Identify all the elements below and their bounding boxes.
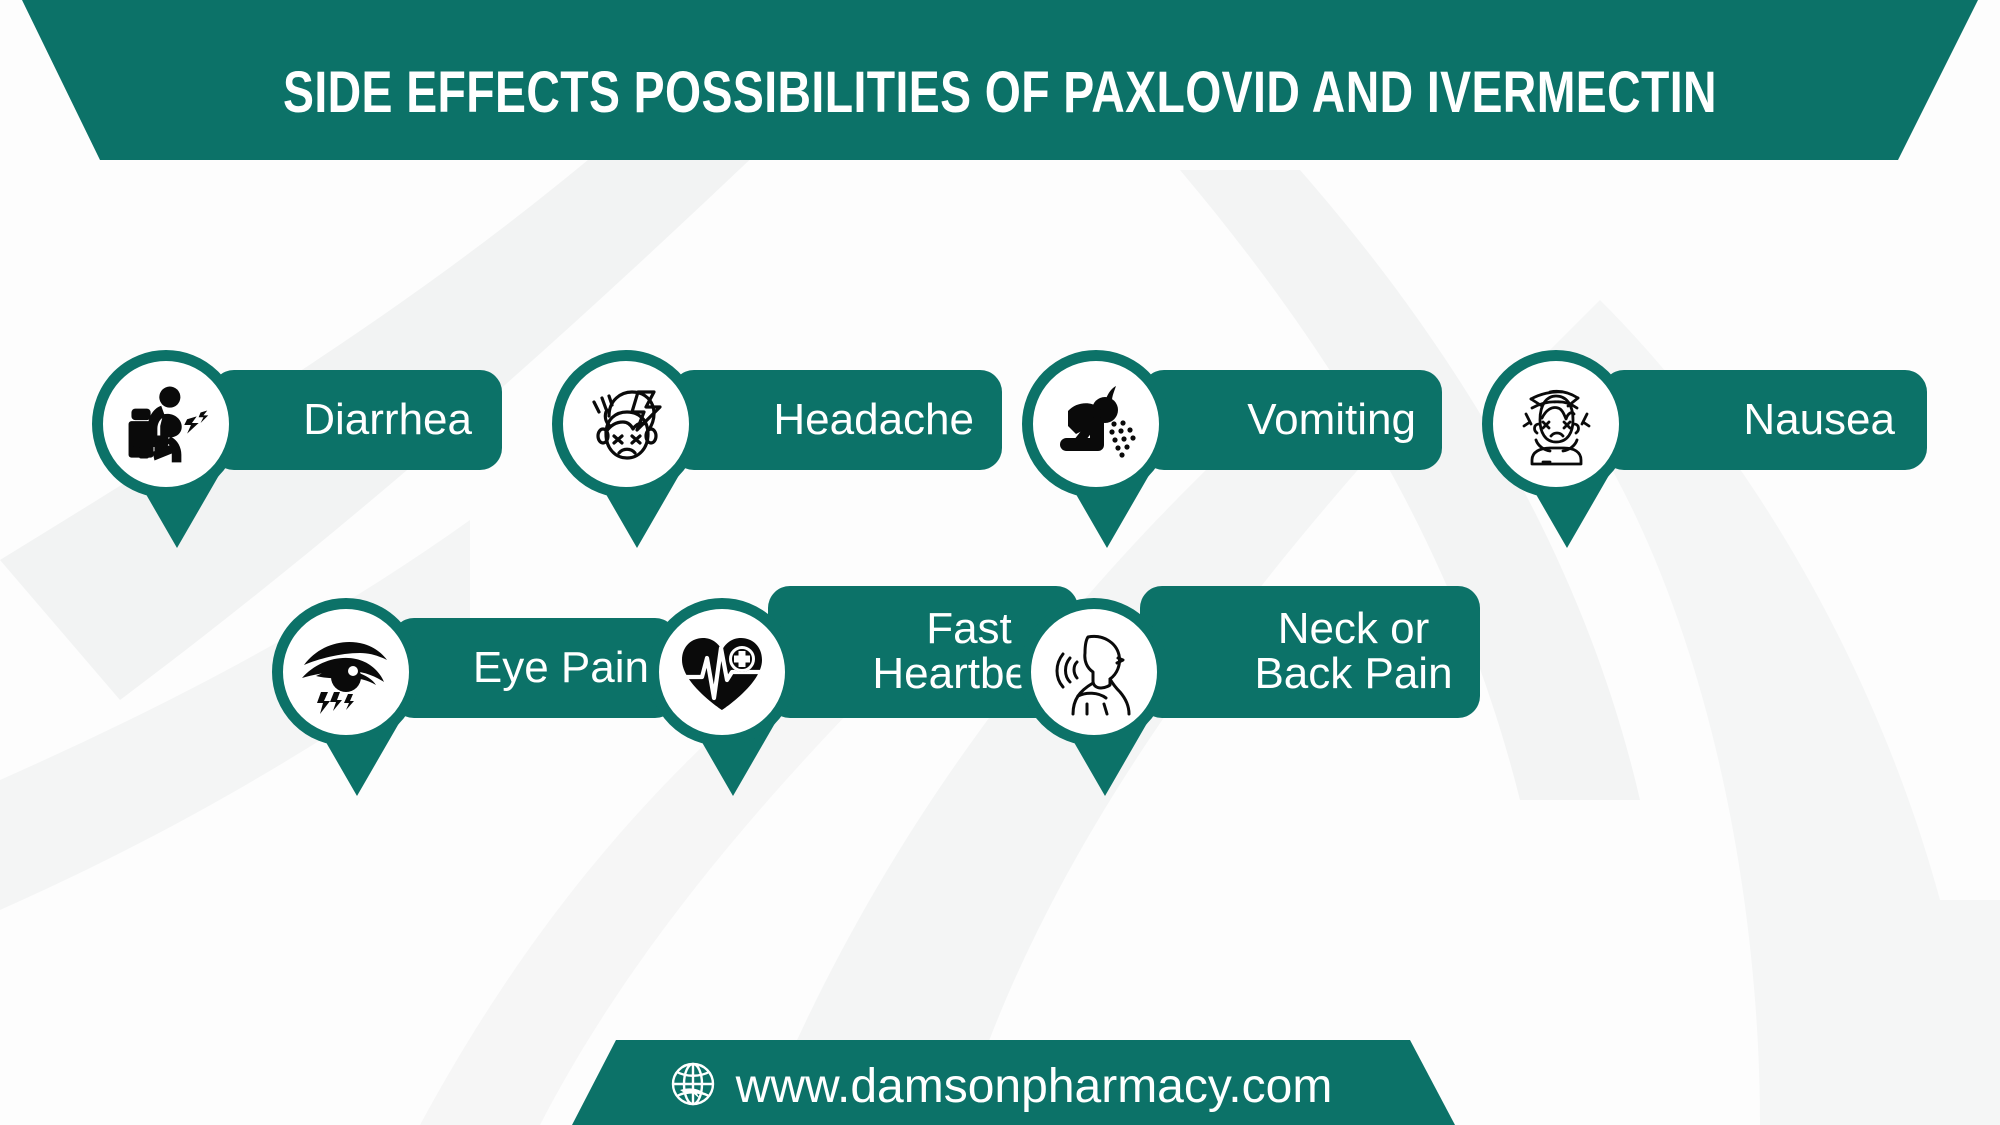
badge-diarrhea[interactable]: Diarrhea: [92, 350, 522, 590]
badge-label: Nausea: [1743, 398, 1895, 443]
badge-pill[interactable]: Headache: [672, 370, 1002, 470]
badge-icon-circle: [648, 598, 796, 746]
badge-icon-circle: [1020, 598, 1168, 746]
badge-eye-pain[interactable]: Eye Pain: [272, 598, 692, 838]
badge-icon-circle: [552, 350, 700, 498]
badge-icon-circle: [92, 350, 240, 498]
badge-icon-circle: [1482, 350, 1630, 498]
badge-label: Headache: [773, 398, 974, 443]
globe-icon: [668, 1059, 718, 1114]
badge-label: Eye Pain: [473, 646, 649, 691]
header-banner: SIDE EFFECTS POSSIBILITIES OF PAXLOVID A…: [0, 0, 2000, 170]
badge-pill[interactable]: Nausea: [1602, 370, 1927, 470]
badge-pill[interactable]: Neck or Back Pain: [1140, 586, 1480, 718]
neck-back-pain-icon: [1044, 622, 1144, 722]
website-url[interactable]: www.damsonpharmacy.com: [736, 1059, 1333, 1114]
head-lightning-icon: [576, 374, 676, 474]
badge-label: Vomiting: [1247, 398, 1416, 443]
badge-vomiting[interactable]: Vomiting: [1022, 350, 1452, 590]
badge-label: Neck or Back Pain: [1254, 607, 1452, 697]
badge-label: Diarrhea: [303, 398, 472, 443]
badge-pill[interactable]: Vomiting: [1142, 370, 1442, 470]
badge-icon-circle: [1022, 350, 1170, 498]
page-title: SIDE EFFECTS POSSIBILITIES OF PAXLOVID A…: [200, 0, 1800, 170]
eye-icon: [296, 622, 396, 722]
infographic-canvas: SIDE EFFECTS POSSIBILITIES OF PAXLOVID A…: [0, 0, 2000, 1125]
badge-icon-circle: [272, 598, 420, 746]
person-on-toilet-icon: [118, 376, 214, 472]
dizzy-face-icon: [1506, 374, 1606, 474]
footer-bar: www.damsonpharmacy.com: [0, 1040, 2000, 1125]
badge-nausea[interactable]: Nausea: [1482, 350, 1932, 590]
heart-pulse-icon: [672, 622, 772, 722]
badge-neck-or-back-pain[interactable]: Neck or Back Pain: [1020, 598, 1490, 838]
badge-pill[interactable]: Eye Pain: [392, 618, 677, 718]
badge-pill[interactable]: Diarrhea: [212, 370, 502, 470]
person-vomiting-icon: [1046, 374, 1146, 474]
badge-headache[interactable]: Headache: [552, 350, 992, 590]
